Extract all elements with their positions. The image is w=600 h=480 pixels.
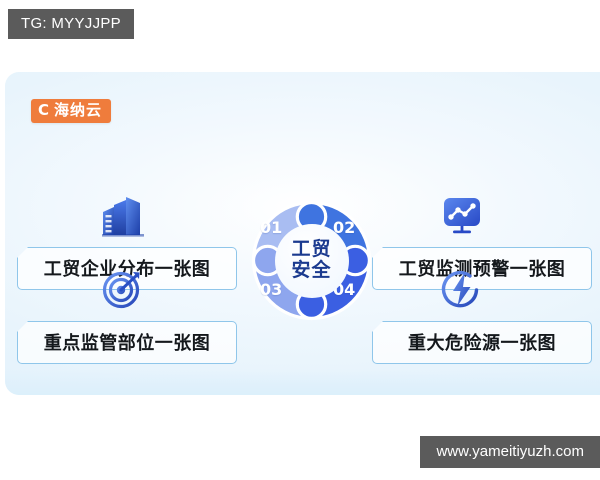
hub-title-line-1: 工贸 [291, 240, 331, 260]
center-donut-hub: 01 02 03 04 工贸 安全 [245, 194, 378, 327]
telegram-watermark-tag: TG: MYYJJPP [8, 9, 134, 39]
feature-label-chip[interactable]: 重大危险源一张图 [372, 321, 592, 364]
monitor-chart-icon [434, 190, 490, 242]
brand-mark-icon: C [38, 103, 49, 118]
feature-key-supervision-areas[interactable]: 重点监管部位一张图 [17, 264, 237, 364]
site-watermark-tag: www.yameitiyuzh.com [420, 436, 600, 468]
brand-name-label: 海纳云 [54, 103, 102, 118]
site-watermark-text: www.yameitiyuzh.com [436, 443, 584, 460]
donut-segment-label-03: 03 [260, 280, 282, 299]
infographic-card: C 海纳云 01 02 03 04 工贸 安全 [5, 72, 600, 395]
donut-segment-label-01: 01 [260, 218, 282, 237]
hub-center-title: 工贸 安全 [275, 224, 349, 298]
building-icon [95, 190, 151, 242]
feature-label-chip[interactable]: 重点监管部位一张图 [17, 321, 237, 364]
feature-major-hazard-source[interactable]: 重大危险源一张图 [372, 264, 592, 364]
lightning-icon [434, 264, 490, 316]
telegram-watermark-text: TG: MYYJJPP [21, 15, 121, 32]
brand-logo: C 海纳云 [31, 99, 111, 123]
target-icon [95, 264, 151, 316]
hub-title-line-2: 安全 [291, 261, 331, 281]
